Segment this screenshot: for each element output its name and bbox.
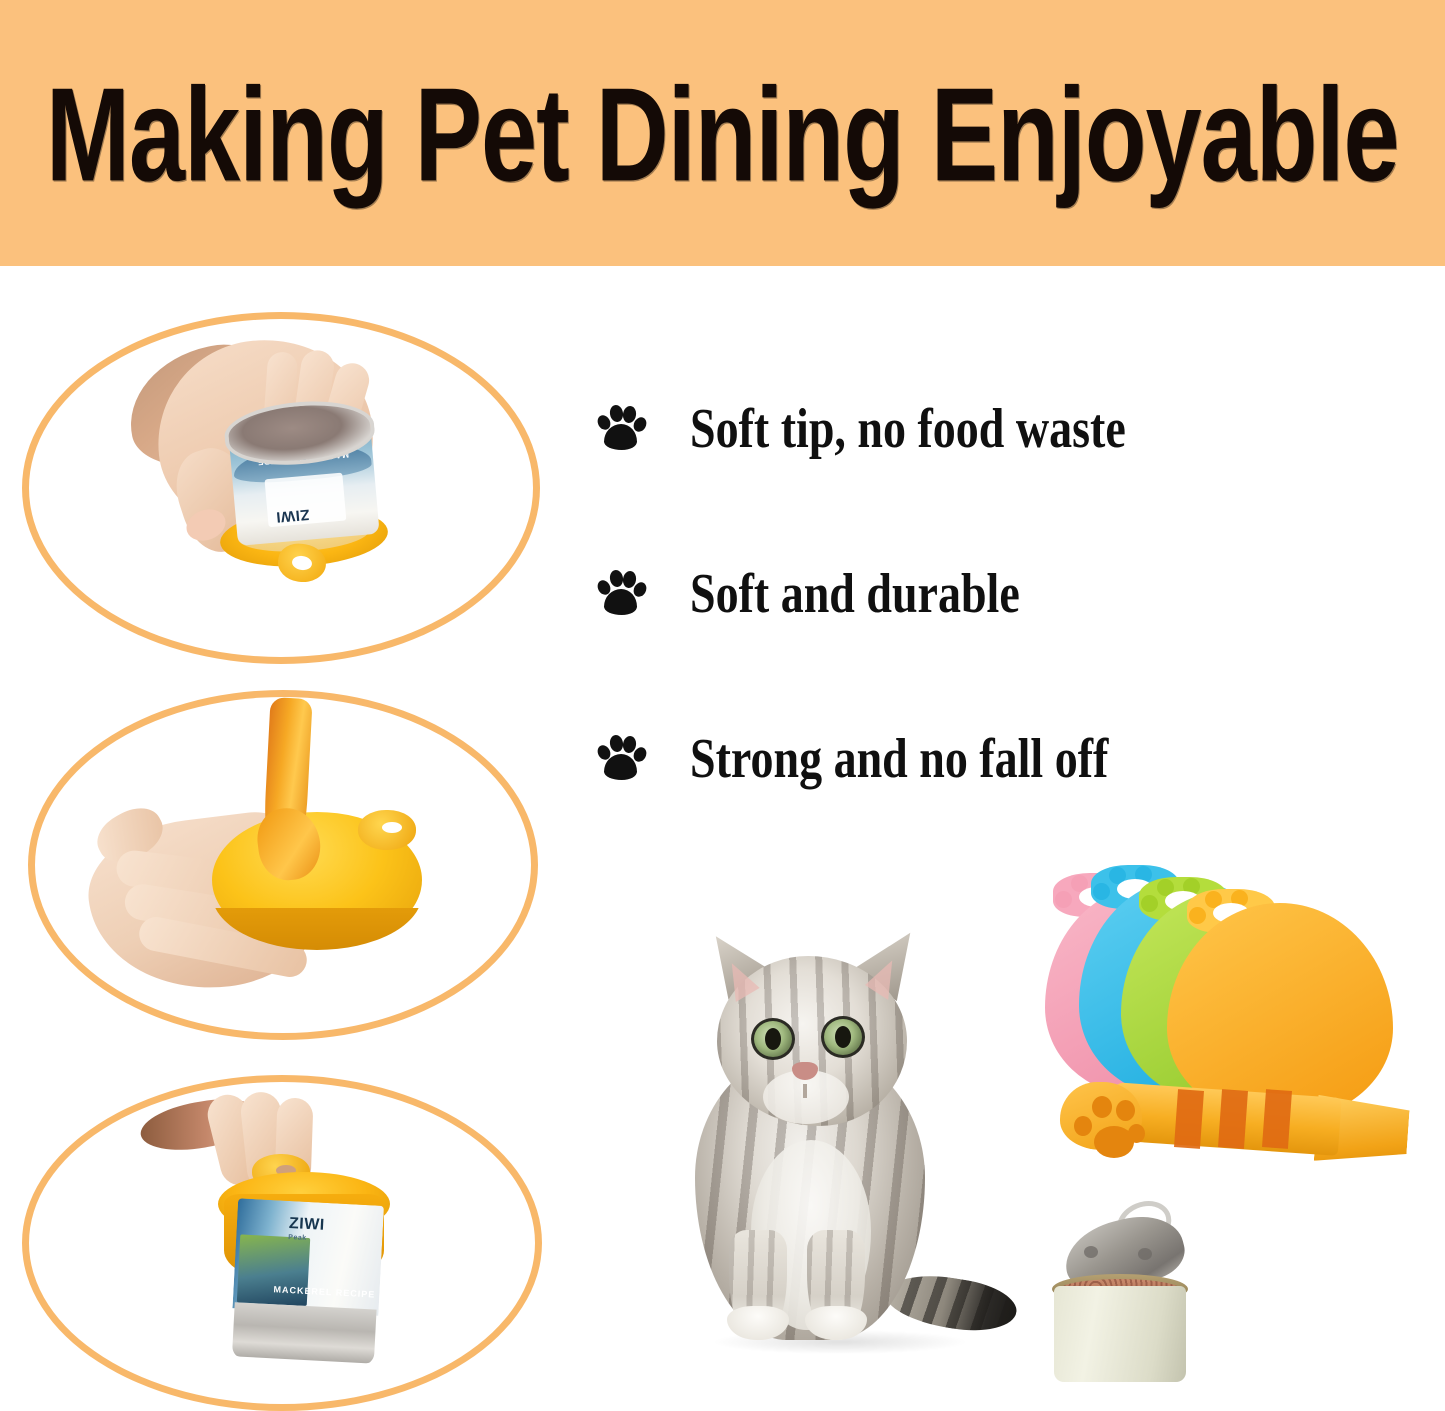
paw-print-icon — [596, 735, 644, 781]
feature-label: Soft tip, no food waste — [690, 396, 1126, 461]
spatula-stripe — [1174, 1089, 1204, 1149]
can-body — [1054, 1286, 1186, 1382]
can-brand-subtext: Peak — [288, 1234, 307, 1242]
pet-food-can: ZIWI Peak MACKEREL RECIPE — [230, 1198, 384, 1363]
feature-item-2: Soft and durable — [596, 567, 1426, 619]
lid-paw-tab — [358, 810, 416, 850]
lid-dimple — [1138, 1248, 1152, 1260]
feature-label: Strong and no fall off — [690, 726, 1108, 791]
spatula-paw-head — [1060, 1082, 1142, 1150]
feature-list: Soft tip, no food waste Soft and durable… — [596, 402, 1426, 897]
product-infographic: Making Pet Dining Enjoyable MACKEREL REC… — [0, 0, 1445, 1411]
pet-food-can: MACKEREL RECIPE ZIWI — [222, 396, 384, 549]
tabby-kitten-photo — [655, 900, 995, 1395]
lid-dimple — [1084, 1246, 1098, 1258]
photo-hand-holding-lid-with-spoon — [90, 700, 450, 1030]
feature-item-1: Soft tip, no food waste — [596, 402, 1426, 454]
opened-pet-food-can — [1032, 1198, 1232, 1398]
kitten-pupil — [835, 1026, 851, 1048]
page-title: Making Pet Dining Enjoyable — [46, 64, 1399, 202]
can-brand-text: ZIWI — [288, 1215, 325, 1235]
photo-hand-lifting-can-by-lid: ZIWI Peak MACKEREL RECIPE — [130, 1090, 460, 1390]
spatula-stripe — [1218, 1089, 1248, 1149]
feature-label: Soft and durable — [690, 561, 1020, 626]
header-banner: Making Pet Dining Enjoyable — [0, 0, 1445, 266]
photo-hand-pressing-lid-onto-can: MACKEREL RECIPE ZIWI — [120, 330, 450, 630]
spatula-stripe — [1262, 1089, 1292, 1149]
kitten-mouth — [803, 1084, 807, 1098]
paw-print-icon — [596, 405, 644, 451]
can-brand-text: ZIWI — [275, 506, 310, 526]
feature-item-3: Strong and no fall off — [596, 732, 1426, 784]
kitten-pupil — [765, 1028, 781, 1050]
can-metal-base — [232, 1302, 377, 1363]
cat-paw-spatula — [1048, 1060, 1408, 1190]
paw-print-icon — [596, 570, 644, 616]
